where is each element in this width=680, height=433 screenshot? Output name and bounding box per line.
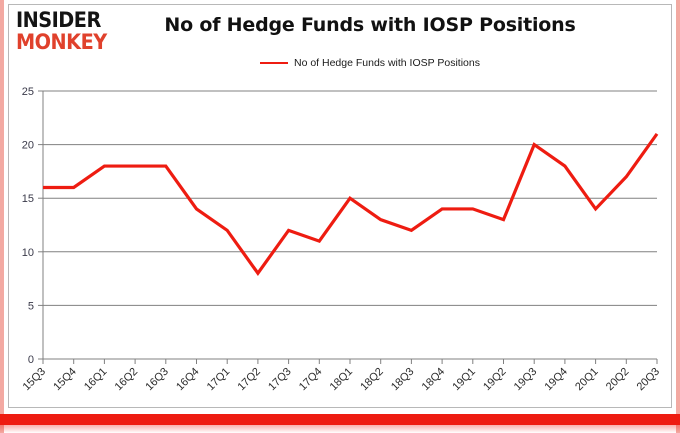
legend-label: No of Hedge Funds with IOSP Positions [294,57,480,69]
bottom-red-bar [0,414,680,425]
logo-text-insider: INSIDER [16,10,136,31]
insider-monkey-logo: INSIDER MONKEY [16,10,134,53]
chart-screenshot: INSIDER MONKEY No of Hedge Funds with IO… [0,0,680,433]
chart-legend: No of Hedge Funds with IOSP Positions [120,57,620,69]
left-red-edge-strip [0,0,4,433]
logo-text-monkey: MONKEY [16,32,136,53]
right-red-edge-strip [676,0,680,433]
chart-title: No of Hedge Funds with IOSP Positions [120,14,620,36]
bottom-red-bar-shadow [0,425,680,433]
legend-swatch-line [260,62,288,65]
